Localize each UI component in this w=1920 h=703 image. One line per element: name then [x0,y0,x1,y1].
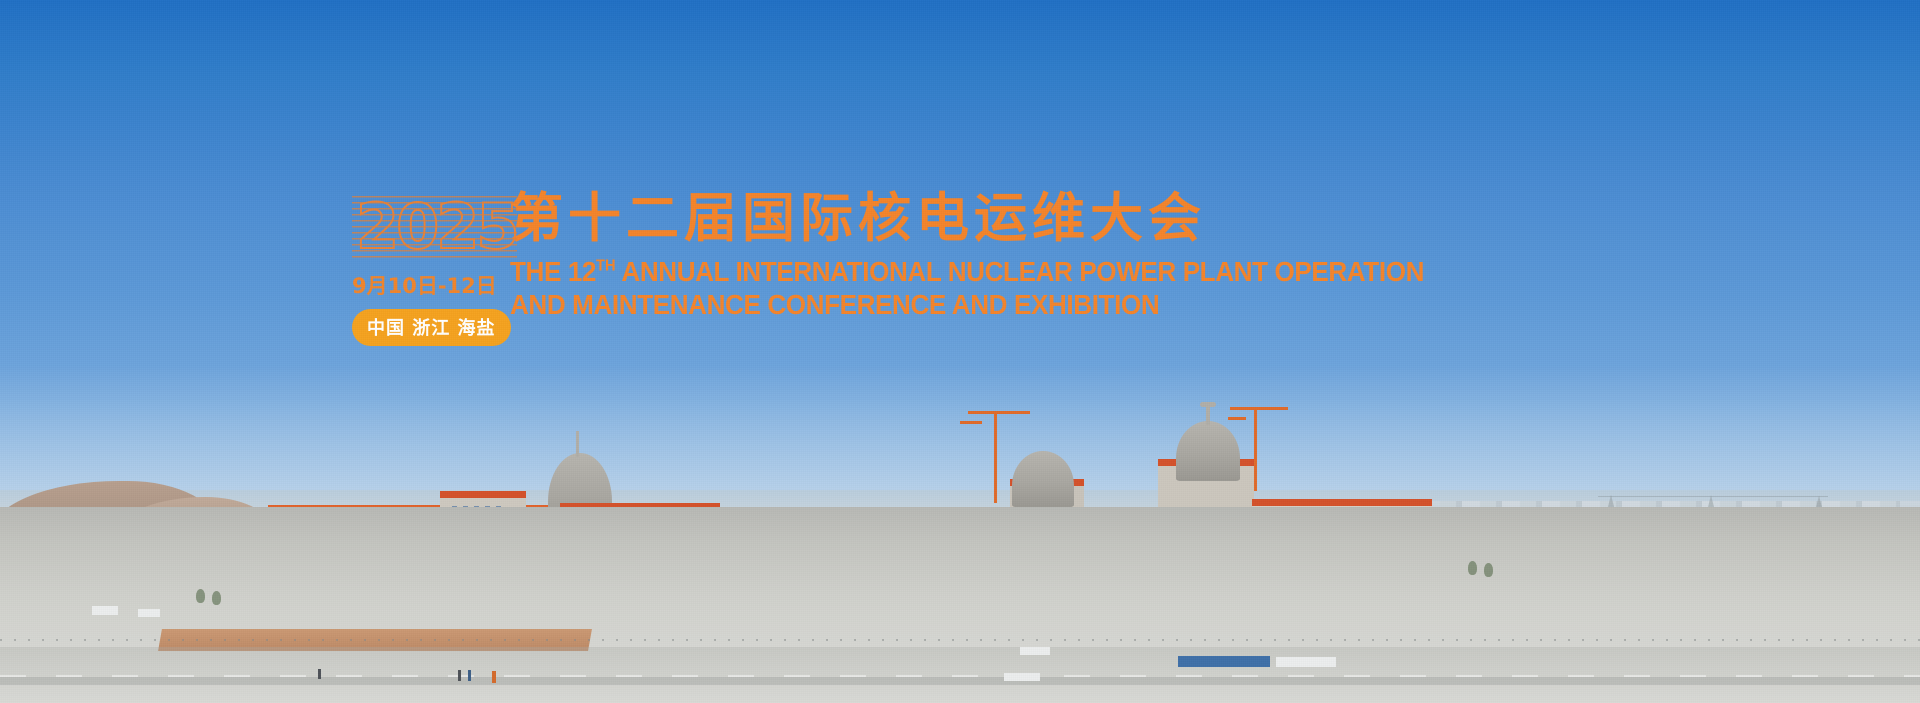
conference-title-en-line2: AND MAINTENANCE CONFERENCE AND EXHIBITIO… [510,289,1526,321]
roof [1252,499,1432,506]
person-figure [468,670,471,681]
road-edge [0,677,1920,685]
parked-vehicle [1020,647,1050,655]
tree [1484,563,1493,577]
parked-vehicle [92,606,118,615]
headline-right-column: 第十二届国际核电运维大会 THE 12TH ANNUAL INTERNATION… [504,192,1602,321]
construction-crane-left [960,403,1030,503]
conference-title-en: THE 12TH ANNUAL INTERNATIONAL NUCLEAR PO… [510,256,1526,321]
year-badge: 2025 [352,196,517,258]
perimeter-fence [0,639,1920,641]
conference-title-en-line1: THE 12TH ANNUAL INTERNATIONAL NUCLEAR PO… [510,256,1526,288]
person-figure [318,669,321,679]
reactor-vent-stack [576,431,579,457]
conference-date: 9月10日-12日 [352,270,504,300]
headline-block: 2025 9月10日-12日 中国 浙江 海盐 第十二届国际核电运维大会 THE… [352,192,1602,346]
parked-vehicle [138,609,160,617]
reactor-vent-cap [1200,402,1216,407]
parked-vehicle [1004,673,1040,681]
person-figure [492,671,496,683]
parked-vehicle [1276,657,1336,667]
roof [440,491,526,498]
tree [212,591,221,605]
conference-location-badge: 中国 浙江 海盐 [352,309,511,346]
en-line1-post: ANNUAL INTERNATIONAL NUCLEAR POWER PLANT… [615,256,1424,287]
power-plant-scene: 安全在我心中 质量在我手中 [0,433,1920,703]
tree [196,589,205,603]
en-line1-ordinal: TH [596,258,615,275]
year-text: 2025 [356,196,517,258]
conference-banner: 安全在我心中 质量在我手中 [0,0,1920,703]
parked-vehicle [1178,656,1270,667]
power-line [1598,496,1828,497]
reactor-vent-stack [1206,405,1210,425]
person-figure [458,670,461,681]
headline-left-column: 2025 9月10日-12日 中国 浙江 海盐 [352,192,504,346]
tree [1468,561,1477,575]
conference-title-cn: 第十二届国际核电运维大会 [510,192,1602,246]
construction-crane-right [1228,401,1292,491]
en-line1-pre: THE 12 [510,256,596,287]
